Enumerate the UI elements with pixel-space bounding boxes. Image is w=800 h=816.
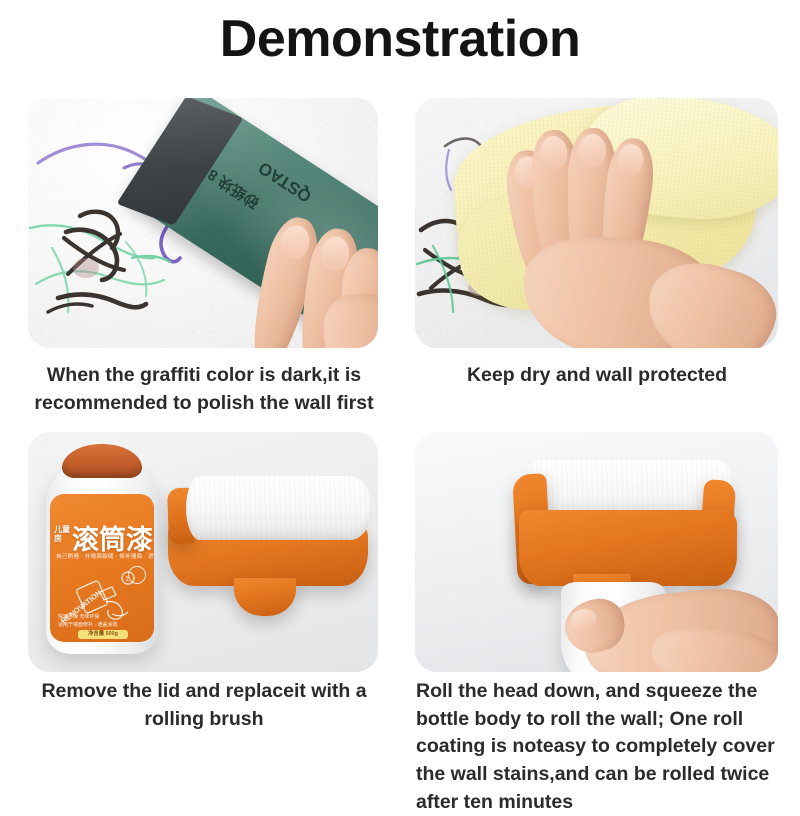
roller-neck [234, 578, 296, 616]
bottle-label: 滚筒漆 儿童房 自己刷墙 · 补墙面裂缝 · 修补墙面 · 遮盖污渍 1 REN… [50, 494, 154, 642]
panel-4-caption: Roll the head down, and squeeze the bott… [416, 678, 782, 816]
bottle-cap [62, 444, 142, 478]
thumbnail [568, 606, 599, 633]
panel-1-caption: When the graffiti color is dark,it is re… [24, 362, 384, 417]
roller-nap [186, 476, 372, 540]
sanding-block-print-text: QSTAO [255, 157, 316, 206]
roller-nap-texture [186, 476, 372, 540]
panel-3-caption: Remove the lid and replaceit with a roll… [24, 678, 384, 733]
page-title: Demonstration [0, 12, 800, 67]
demo-panel-1: QSTAO 砂纸块 8 号 细目 打磨 [28, 98, 378, 348]
panel-4-photo [415, 432, 778, 672]
fingernail [578, 134, 606, 168]
label-fineprint-cn: 快速干燥 无味环保适用于墙面修补 · 遮盖涂鸦 [58, 614, 117, 629]
panel-3-photo: 滚筒漆 儿童房 自己刷墙 · 补墙面裂缝 · 修补墙面 · 遮盖污渍 1 REN… [28, 432, 378, 672]
label-title-badge: 儿童房 [54, 526, 70, 544]
fingernail [616, 143, 645, 177]
fingernail [277, 222, 312, 262]
label-subtitle-cn: 自己刷墙 · 补墙面裂缝 · 修补墙面 · 遮盖污渍 [56, 552, 154, 560]
label-icon-box [128, 566, 146, 584]
demo-panel-2 [415, 98, 778, 348]
demo-panel-3: 滚筒漆 儿童房 自己刷墙 · 补墙面裂缝 · 修补墙面 · 遮盖污渍 1 REN… [28, 432, 378, 672]
fingernail [539, 135, 568, 169]
panel-2-caption: Keep dry and wall protected [412, 362, 782, 390]
demo-panel-4 [415, 432, 778, 672]
label-weight-badge: 净含量 500g [78, 630, 128, 639]
panel-1-photo: QSTAO 砂纸块 8 号 细目 打磨 [28, 98, 378, 348]
panel-2-photo [415, 98, 778, 348]
